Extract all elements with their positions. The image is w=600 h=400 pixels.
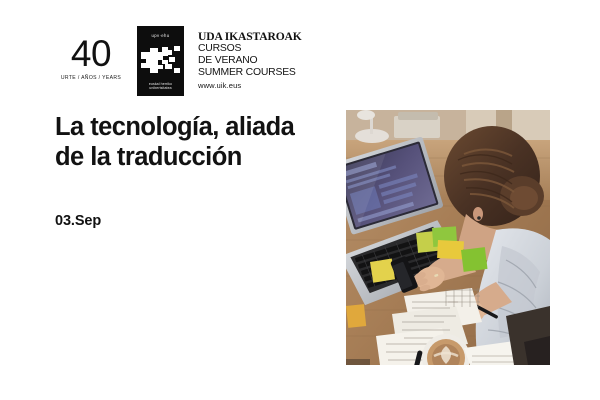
summer-courses-lockup: UDA IKASTAROAK CURSOS DE VERANO SUMMER C… [198,26,302,90]
summer-courses-url[interactable]: www.uik.eus [198,81,302,90]
summer-courses-line-cursos: CURSOS [198,43,302,55]
course-date: 03.Sep [55,213,101,229]
anniversary-mark: 40 URTE / AÑOS / YEARS [58,26,124,81]
summer-courses-line-english: SUMMER COURSES [198,67,302,79]
upv-ehu-geometric-icon [141,43,180,77]
course-photo [346,110,550,365]
anniversary-subtitle: URTE / AÑOS / YEARS [58,75,124,81]
upv-ehu-logo: upv·ehu euskal [137,26,184,96]
summer-courses-title-basque: UDA IKASTAROAK [198,30,302,43]
upv-ehu-bottom-line-2: unibertsitatea [137,86,184,91]
page-title-line-2: de la traducción [55,142,330,172]
anniversary-number: 40 [58,36,124,71]
upv-ehu-bottom-text: euskal herriko unibertsitatea [137,82,184,91]
summer-courses-line-deverano: DE VERANO [198,55,302,67]
page-title: La tecnología, aliada de la traducción [55,112,330,173]
upv-ehu-top-text: upv·ehu [137,33,184,38]
page-title-line-1: La tecnología, aliada [55,112,330,142]
poster-canvas: 40 URTE / AÑOS / YEARS upv·ehu [0,0,600,400]
header-logo-bar: 40 URTE / AÑOS / YEARS upv·ehu [58,26,302,96]
